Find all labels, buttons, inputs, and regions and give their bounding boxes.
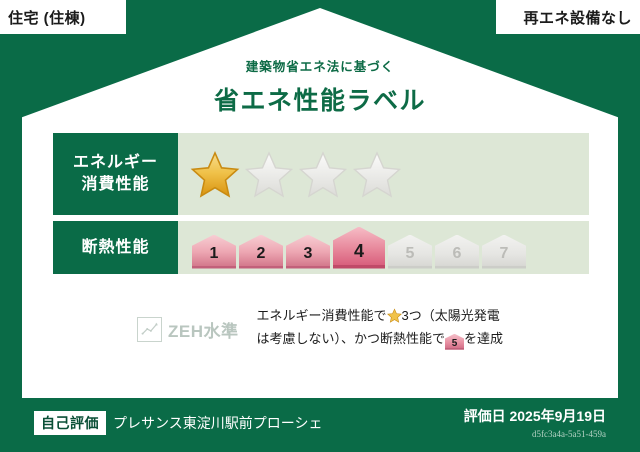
building-type-tag: 住宅 (住棟) — [0, 0, 126, 34]
insulation-badge-inline: 5 — [445, 334, 464, 350]
insulation-performance-value: 1 2 3 4 5 6 7 — [178, 221, 589, 274]
insulation-level-badge: 2 — [239, 235, 283, 269]
label-footer: 自己評価 プレサンス東淀川駅前プローシェ 評価日 2025年9月19日 d5fc… — [0, 398, 640, 452]
insulation-performance-row: 断熱性能 1 2 3 4 5 6 7 — [53, 221, 589, 274]
star-icon-empty — [298, 150, 348, 198]
energy-label-line2: 消費性能 — [81, 174, 149, 196]
star-icon-inline — [387, 308, 402, 323]
performance-rows: エネルギー 消費性能 — [53, 133, 589, 280]
description-text-d: を達成 — [464, 331, 503, 346]
insulation-level-badge: 5 — [388, 235, 432, 269]
description-text-c: は考慮しない）、かつ断熱性能で — [256, 331, 445, 346]
energy-performance-row: エネルギー 消費性能 — [53, 133, 589, 215]
label-subtitle: 建築物省エネ法に基づく — [0, 56, 640, 75]
insulation-performance-label: 断熱性能 — [53, 221, 178, 274]
evaluation-date: 評価日 2025年9月19日 — [464, 406, 606, 426]
renewable-equipment-tag: 再エネ設備なし — [496, 0, 640, 34]
page-title: 省エネ性能ラベル — [0, 81, 640, 117]
description-line-1: エネルギー消費性能で3つ（太陽光発電 — [256, 305, 503, 328]
achievement-description: エネルギー消費性能で3つ（太陽光発電 は考慮しない）、かつ断熱性能で5を達成 — [256, 305, 503, 351]
insulation-level-badge: 6 — [435, 235, 479, 269]
insulation-level-badge: 3 — [286, 235, 330, 269]
insulation-level-scale: 1 2 3 4 5 6 7 — [178, 227, 526, 269]
star-icon-empty — [244, 150, 294, 198]
energy-performance-label: 住宅 (住棟) 再エネ設備なし 建築物省エネ法に基づく 省エネ性能ラベル エネル… — [0, 0, 640, 452]
label-id: d5fc3a4a-5a51-459a — [464, 429, 606, 439]
note-area: ZEH水準 エネルギー消費性能で3つ（太陽光発電 は考慮しない）、かつ断熱性能で… — [0, 305, 640, 351]
zeh-standard-label: ZEH水準 — [168, 317, 239, 342]
description-text-a: エネルギー消費性能で — [256, 308, 386, 323]
building-name: プレサンス東淀川駅前プローシェ — [113, 413, 322, 433]
footer-right: 評価日 2025年9月19日 d5fc3a4a-5a51-459a — [464, 406, 606, 439]
footer-left: 自己評価 プレサンス東淀川駅前プローシェ — [34, 411, 322, 435]
zeh-standard-block: ZEH水準 — [137, 305, 239, 342]
energy-performance-value — [178, 133, 589, 215]
energy-performance-label: エネルギー 消費性能 — [53, 133, 178, 215]
insulation-level-badge: 7 — [482, 235, 526, 269]
insulation-level-badge-current: 4 — [333, 227, 385, 269]
insulation-label-line1: 断熱性能 — [81, 237, 149, 259]
chart-up-icon — [137, 317, 162, 342]
description-text-b: 3つ（太陽光発電 — [402, 308, 500, 323]
star-rating — [178, 150, 402, 198]
description-line-2: は考慮しない）、かつ断熱性能で5を達成 — [256, 328, 503, 351]
star-icon-filled — [190, 150, 240, 198]
energy-label-line1: エネルギー — [73, 152, 158, 174]
heading-block: 建築物省エネ法に基づく 省エネ性能ラベル — [0, 56, 640, 117]
insulation-level-badge: 1 — [192, 235, 236, 269]
star-icon-empty — [352, 150, 402, 198]
self-evaluation-badge: 自己評価 — [34, 411, 106, 435]
